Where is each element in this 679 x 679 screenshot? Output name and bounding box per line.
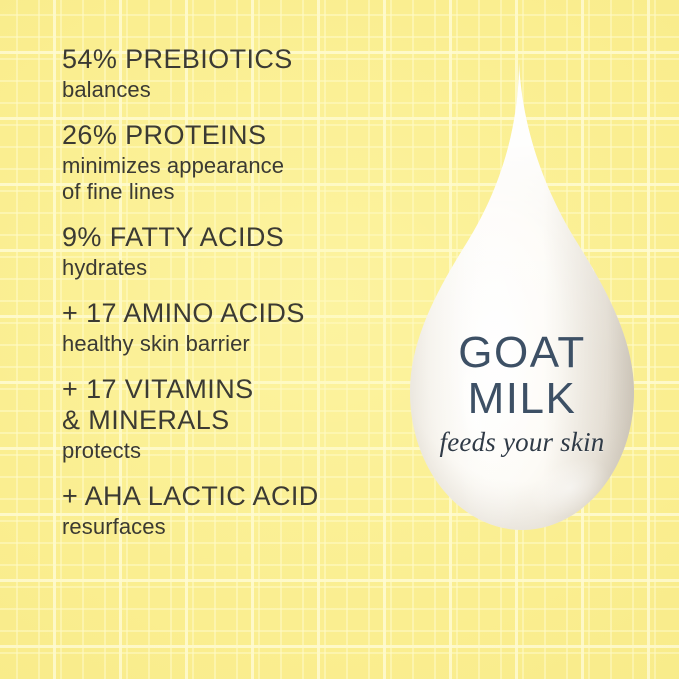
ingredient-list: 54% PREBIOTICS balances 26% PROTEINS min… (62, 44, 392, 540)
ingredient-name: + 17 VITAMINS & MINERALS (62, 374, 392, 436)
ingredient-item-amino-acids: + 17 AMINO ACIDS healthy skin barrier (62, 298, 392, 357)
ingredient-item-prebiotics: 54% PREBIOTICS balances (62, 44, 392, 103)
ingredient-item-vitamins-minerals: + 17 VITAMINS & MINERALS protects (62, 374, 392, 464)
ingredient-name: 9% FATTY ACIDS (62, 222, 392, 253)
ingredient-item-aha-lactic-acid: + AHA LACTIC ACID resurfaces (62, 481, 392, 540)
ingredient-benefit: healthy skin barrier (62, 331, 392, 357)
ingredient-benefit: balances (62, 77, 392, 103)
milk-droplet-icon (388, 58, 656, 558)
ingredient-name: + AHA LACTIC ACID (62, 481, 392, 512)
ingredient-name: 54% PREBIOTICS (62, 44, 392, 75)
ingredient-item-fatty-acids: 9% FATTY ACIDS hydrates (62, 222, 392, 281)
ingredient-benefit: minimizes appearance of fine lines (62, 153, 392, 205)
droplet-core-highlight (446, 168, 538, 548)
ingredient-benefit: protects (62, 438, 392, 464)
ingredient-item-proteins: 26% PROTEINS minimizes appearance of fin… (62, 120, 392, 205)
goat-milk-infographic: 54% PREBIOTICS balances 26% PROTEINS min… (0, 0, 679, 679)
ingredient-benefit: hydrates (62, 255, 392, 281)
ingredient-name: 26% PROTEINS (62, 120, 392, 151)
ingredient-name: + 17 AMINO ACIDS (62, 298, 392, 329)
milk-droplet-graphic: GOAT MILK feeds your skin (388, 58, 656, 558)
ingredient-benefit: resurfaces (62, 514, 392, 540)
